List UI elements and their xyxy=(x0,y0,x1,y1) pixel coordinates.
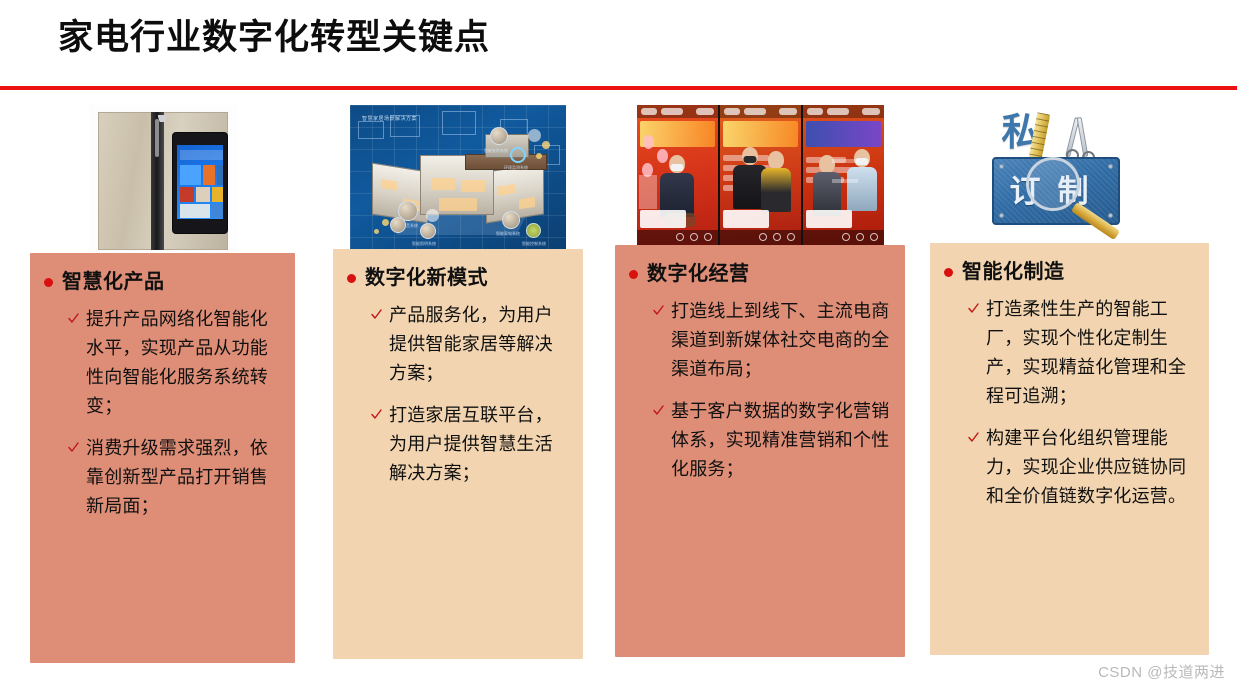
list-item-text: 基于客户数据的数字化营销体系，实现精准营销和个性化服务； xyxy=(671,397,891,484)
card-heading-text: 数字化经营 xyxy=(647,259,750,289)
list-item: 打造柔性生产的智能工厂，实现个性化定制生产，实现精益化管理和全程可追溯； xyxy=(968,295,1195,411)
list-item-text: 打造线上到线下、主流电商渠道到新媒体社交电商的全渠道布局； xyxy=(671,297,891,384)
card-new-digital-models: 数字化新模式 产品服务化，为用户提供智能家居等解决方案； 打造家居互联平台，为用… xyxy=(333,249,583,659)
thumbnail-smart-refrigerator xyxy=(30,105,295,253)
dot-bullet-icon xyxy=(347,274,356,283)
livestream-pane xyxy=(803,105,884,245)
column-new-digital-models: 智慧家居场景解决方案 xyxy=(333,105,583,659)
magnifier-icon xyxy=(1026,157,1080,211)
card-smart-products: 智慧化产品 提升产品网络化智能化水平，实现产品从功能性向智能化服务系统转变； 消… xyxy=(30,253,295,663)
bullet-list: 提升产品网络化智能化水平，实现产品从功能性向智能化服务系统转变； 消费升级需求强… xyxy=(44,305,281,521)
column-digital-operations: 数字化经营 打造线上到线下、主流电商渠道到新媒体社交电商的全渠道布局； 基于客户… xyxy=(615,105,905,657)
check-icon xyxy=(968,302,979,315)
bullet-list: 产品服务化，为用户提供智能家居等解决方案； 打造家居互联平台，为用户提供智慧生活… xyxy=(347,301,569,488)
private-custom-tailoring-badge: 私 订 制 xyxy=(970,105,1170,243)
list-item-text: 提升产品网络化智能化水平，实现产品从功能性向智能化服务系统转变； xyxy=(86,305,281,421)
card-heading-text: 数字化新模式 xyxy=(365,263,488,293)
livestream-pane xyxy=(720,105,801,245)
column-smart-products: 智慧化产品 提升产品网络化智能化水平，实现产品从功能性向智能化服务系统转变； 消… xyxy=(30,105,295,663)
list-item: 打造线上到线下、主流电商渠道到新媒体社交电商的全渠道布局； xyxy=(653,297,891,384)
page-title: 家电行业数字化转型关键点 xyxy=(58,14,490,62)
thumbnail-custom-tailoring: 私 订 制 xyxy=(930,105,1209,243)
check-icon xyxy=(371,408,382,421)
card-heading-row: 数字化经营 xyxy=(629,259,891,289)
list-item: 基于客户数据的数字化营销体系，实现精准营销和个性化服务； xyxy=(653,397,891,484)
illustration-caption: 智慧家居场景解决方案 xyxy=(362,115,417,122)
dot-bullet-icon xyxy=(44,278,53,287)
column-intelligent-manufacturing: 私 订 制 智能化制造 xyxy=(930,105,1209,655)
dot-bullet-icon xyxy=(629,270,638,279)
list-item-text: 消费升级需求强烈，依靠创新型产品打开销售新局面； xyxy=(86,434,281,521)
csdn-watermark: CSDN @技道两进 xyxy=(1098,661,1225,682)
livestream-pane xyxy=(637,105,718,245)
dot-bullet-icon xyxy=(944,268,953,277)
card-heading-row: 数字化新模式 xyxy=(347,263,569,293)
list-item: 产品服务化，为用户提供智能家居等解决方案； xyxy=(371,301,569,388)
slide-canvas: 家电行业数字化转型关键点 xyxy=(0,0,1237,690)
list-item: 构建平台化组织管理能力，实现企业供应链协同和全价值链数字化运营。 xyxy=(968,424,1195,511)
list-item: 消费升级需求强烈，依靠创新型产品打开销售新局面； xyxy=(68,434,281,521)
livestream-ecommerce-screens xyxy=(637,105,884,245)
thumbnail-smart-home: 智慧家居场景解决方案 xyxy=(333,105,583,249)
list-item: 提升产品网络化智能化水平，实现产品从功能性向智能化服务系统转变； xyxy=(68,305,281,421)
list-item-text: 构建平台化组织管理能力，实现企业供应链协同和全价值链数字化运营。 xyxy=(986,424,1195,511)
card-heading-text: 智能化制造 xyxy=(962,257,1065,287)
list-item-text: 打造家居互联平台，为用户提供智慧生活解决方案； xyxy=(389,401,569,488)
check-icon xyxy=(968,431,979,444)
card-heading-row: 智慧化产品 xyxy=(44,267,281,297)
thumbnail-livestream xyxy=(615,105,905,245)
check-icon xyxy=(68,312,79,325)
bullet-list: 打造柔性生产的智能工厂，实现个性化定制生产，实现精益化管理和全程可追溯； 构建平… xyxy=(944,295,1195,511)
card-intelligent-manufacturing: 智能化制造 打造柔性生产的智能工厂，实现个性化定制生产，实现精益化管理和全程可追… xyxy=(930,243,1209,655)
card-heading-row: 智能化制造 xyxy=(944,257,1195,287)
title-divider-rule xyxy=(0,86,1237,90)
card-heading-text: 智慧化产品 xyxy=(62,267,165,297)
list-item: 打造家居互联平台，为用户提供智慧生活解决方案； xyxy=(371,401,569,488)
check-icon xyxy=(653,404,664,417)
check-icon xyxy=(371,308,382,321)
bullet-list: 打造线上到线下、主流电商渠道到新媒体社交电商的全渠道布局； 基于客户数据的数字化… xyxy=(629,297,891,484)
smart-home-blueprint-illustration: 智慧家居场景解决方案 xyxy=(350,105,566,249)
card-digital-operations: 数字化经营 打造线上到线下、主流电商渠道到新媒体社交电商的全渠道布局； 基于客户… xyxy=(615,245,905,657)
list-item-text: 产品服务化，为用户提供智能家居等解决方案； xyxy=(389,301,569,388)
check-icon xyxy=(68,441,79,454)
check-icon xyxy=(653,304,664,317)
list-item-text: 打造柔性生产的智能工厂，实现个性化定制生产，实现精益化管理和全程可追溯； xyxy=(986,295,1195,411)
smart-refrigerator-photo xyxy=(89,105,237,253)
